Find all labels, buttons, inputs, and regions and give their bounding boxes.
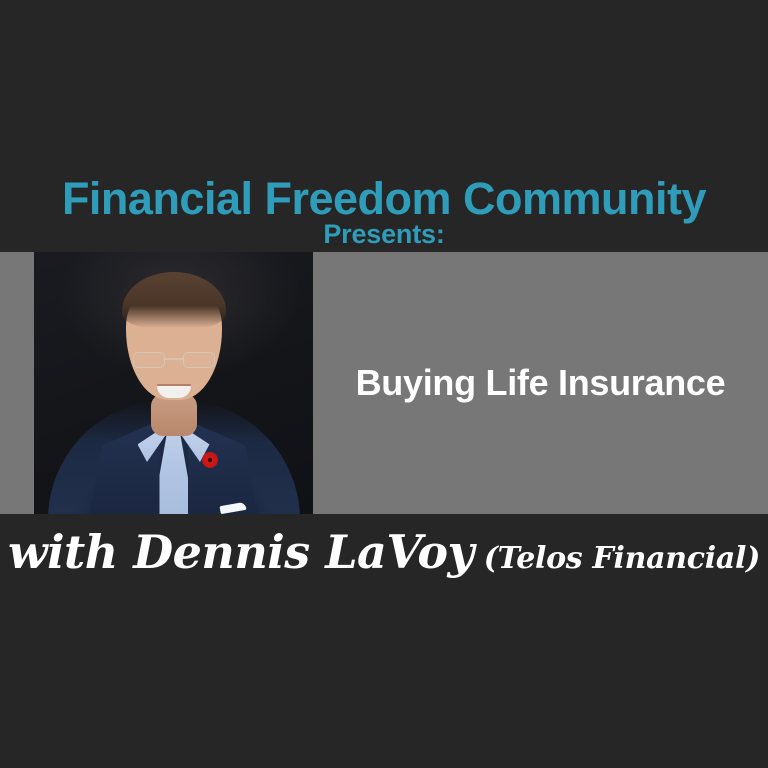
- poppy-pin-icon: [202, 452, 218, 468]
- promo-poster: Financial Freedom Community Presents:: [0, 0, 768, 768]
- brand-title: Financial Freedom Community: [0, 176, 768, 222]
- glasses-bridge-icon: [165, 358, 183, 360]
- lens-right-icon: [183, 352, 215, 368]
- hair-icon: [122, 272, 226, 328]
- speaker-name: with Dennis LaVoy: [8, 525, 474, 579]
- header-band: Financial Freedom Community Presents:: [0, 0, 768, 252]
- session-title: Buying Life Insurance: [313, 252, 768, 514]
- speaker-photo: [34, 252, 313, 514]
- speaker-company: (Telos Financial): [484, 541, 760, 576]
- smile-icon: [157, 386, 191, 398]
- glasses-icon: [133, 352, 215, 368]
- lens-left-icon: [133, 352, 165, 368]
- neck-icon: [151, 394, 197, 436]
- photo-backdrop: [34, 252, 313, 514]
- presents-label: Presents:: [0, 219, 768, 249]
- speaker-credit: with Dennis LaVoy(Telos Financial): [0, 524, 768, 587]
